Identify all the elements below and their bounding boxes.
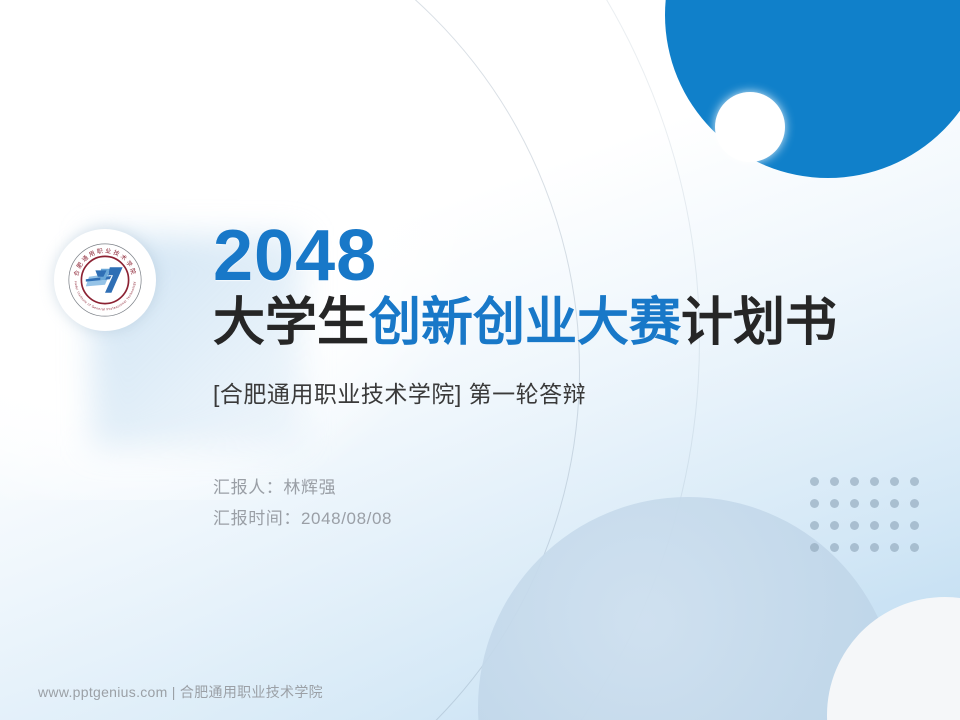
title-segment-leading: 大学生 <box>213 294 369 352</box>
grid-dot <box>890 543 899 552</box>
title-slide: 合肥通用职业技术学院 Hefei Institute of General Pr… <box>0 0 960 720</box>
school-logo-icon: 合肥通用职业技术学院 Hefei Institute of General Pr… <box>65 240 145 320</box>
grid-dot <box>830 543 839 552</box>
subtitle: [合肥通用职业技术学院] 第一轮答辩 <box>213 375 913 409</box>
title-segment-highlight: 创新创业大赛 <box>369 294 681 352</box>
grid-dot <box>810 543 819 552</box>
date-line: 汇报时间：2048/08/08 <box>213 504 913 529</box>
grid-dot <box>910 543 919 552</box>
presenter-line: 汇报人：林辉强 <box>213 473 913 498</box>
title-text-block: 2048 大学生创新创业大赛计划书 [合肥通用职业技术学院] 第一轮答辩 汇报人… <box>213 222 913 535</box>
school-logo-badge: 合肥通用职业技术学院 Hefei Institute of General Pr… <box>54 229 156 331</box>
presentation-meta: 汇报人：林辉强 汇报时间：2048/08/08 <box>213 473 913 529</box>
page-title: 大学生创新创业大赛计划书 <box>213 295 913 351</box>
year-heading: 2048 <box>213 222 913 291</box>
decorative-white-circle-top-right <box>715 92 785 162</box>
title-segment-trailing: 计划书 <box>681 294 837 352</box>
grid-dot <box>850 543 859 552</box>
grid-dot <box>870 543 879 552</box>
slide-footer: www.pptgenius.com | 合肥通用职业技术学院 <box>38 682 323 702</box>
